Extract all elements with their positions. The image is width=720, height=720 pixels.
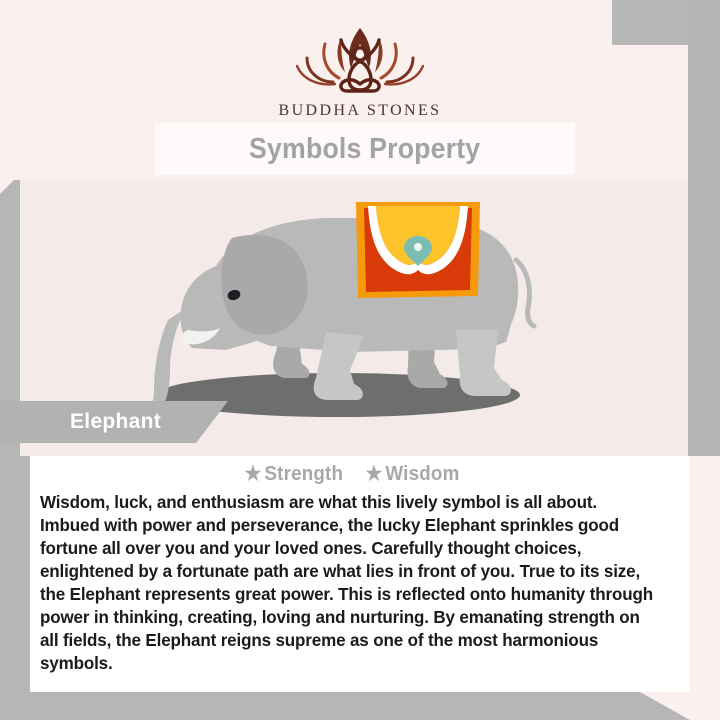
attribute-strength-label: Strength	[264, 463, 343, 485]
attribute-wisdom-label: Wisdom	[385, 463, 459, 485]
brand-name: BUDDHA STONES	[0, 102, 720, 120]
elephant-tail	[516, 260, 534, 326]
star-icon: ★	[245, 463, 262, 485]
star-icon: ★	[366, 463, 383, 485]
saddle-gem-highlight	[414, 243, 422, 251]
description-card: ★Strength ★Wisdom Wisdom, luck, and enth…	[30, 456, 690, 692]
frame-bottom-accent	[0, 692, 720, 720]
frame-bottom-left-accent	[0, 442, 30, 720]
lotus-meditation-icon	[285, 18, 435, 98]
attribute-strength: ★Strength	[245, 462, 344, 487]
attribute-list: ★Strength ★Wisdom	[55, 462, 649, 487]
title-banner: Symbols Property	[155, 123, 575, 175]
symbol-name-banner: Elephant	[0, 401, 228, 443]
attribute-wisdom: ★Wisdom	[366, 462, 460, 487]
brand-logo: BUDDHA STONES	[0, 18, 720, 120]
symbol-description: Wisdom, luck, and enthusiasm are what th…	[36, 491, 659, 675]
symbol-property-card: BUDDHA STONES Symbols Property	[0, 0, 720, 720]
symbol-name: Elephant	[70, 410, 161, 434]
page-title: Symbols Property	[249, 133, 480, 166]
